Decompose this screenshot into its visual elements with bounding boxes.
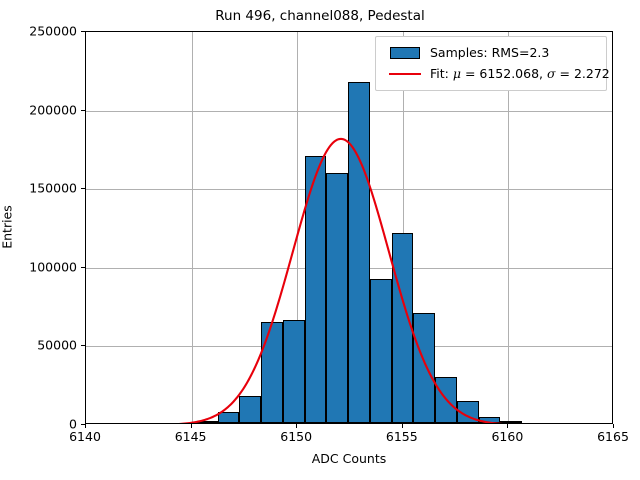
x-tick-mark: [402, 424, 403, 428]
legend-item-fit: Fit: μ = 6152.068, σ = 2.272: [382, 63, 600, 84]
legend-patch-icon: [382, 47, 428, 59]
legend-mu-value: = 6152.068,: [461, 66, 547, 81]
legend-fit-prefix: Fit:: [430, 66, 453, 81]
x-tick-mark: [613, 424, 614, 428]
y-tick-mark: [81, 424, 85, 425]
x-tick-label: 6160: [491, 429, 523, 444]
x-tick-mark: [191, 424, 192, 428]
legend: Samples: RMS=2.3 Fit: μ = 6152.068, σ = …: [375, 36, 607, 91]
y-tick-label: 100000: [29, 259, 77, 274]
x-axis-label: ADC Counts: [85, 451, 613, 466]
x-tick-mark: [85, 424, 86, 428]
x-tick-mark: [507, 424, 508, 428]
y-tick-labels: 050000100000150000200000250000: [0, 0, 77, 480]
legend-item-samples: Samples: RMS=2.3: [382, 42, 600, 63]
x-tick-label: 6145: [175, 429, 207, 444]
y-tick-label: 50000: [37, 338, 77, 353]
legend-label-samples: Samples: RMS=2.3: [428, 45, 549, 60]
legend-sigma-symbol: σ: [547, 66, 556, 81]
legend-mu-symbol: μ: [453, 66, 461, 81]
x-tick-mark: [296, 424, 297, 428]
y-tick-label: 150000: [29, 181, 77, 196]
legend-sigma-value: = 2.272: [556, 66, 610, 81]
x-tick-label: 6150: [280, 429, 312, 444]
legend-line-icon: [382, 73, 428, 75]
y-tick-mark: [81, 345, 85, 346]
y-tick-mark: [81, 267, 85, 268]
y-tick-mark: [81, 188, 85, 189]
legend-label-fit: Fit: μ = 6152.068, σ = 2.272: [428, 66, 610, 81]
x-tick-label: 6165: [597, 429, 629, 444]
y-tick-label: 250000: [29, 24, 77, 39]
y-tick-label: 200000: [29, 102, 77, 117]
chart-title: Run 496, channel088, Pedestal: [0, 8, 640, 24]
x-tick-label: 6140: [69, 429, 101, 444]
y-tick-mark: [81, 110, 85, 111]
x-tick-label: 6155: [386, 429, 418, 444]
figure-canvas: Run 496, channel088, Pedestal Entries AD…: [0, 0, 640, 480]
y-tick-mark: [81, 31, 85, 32]
